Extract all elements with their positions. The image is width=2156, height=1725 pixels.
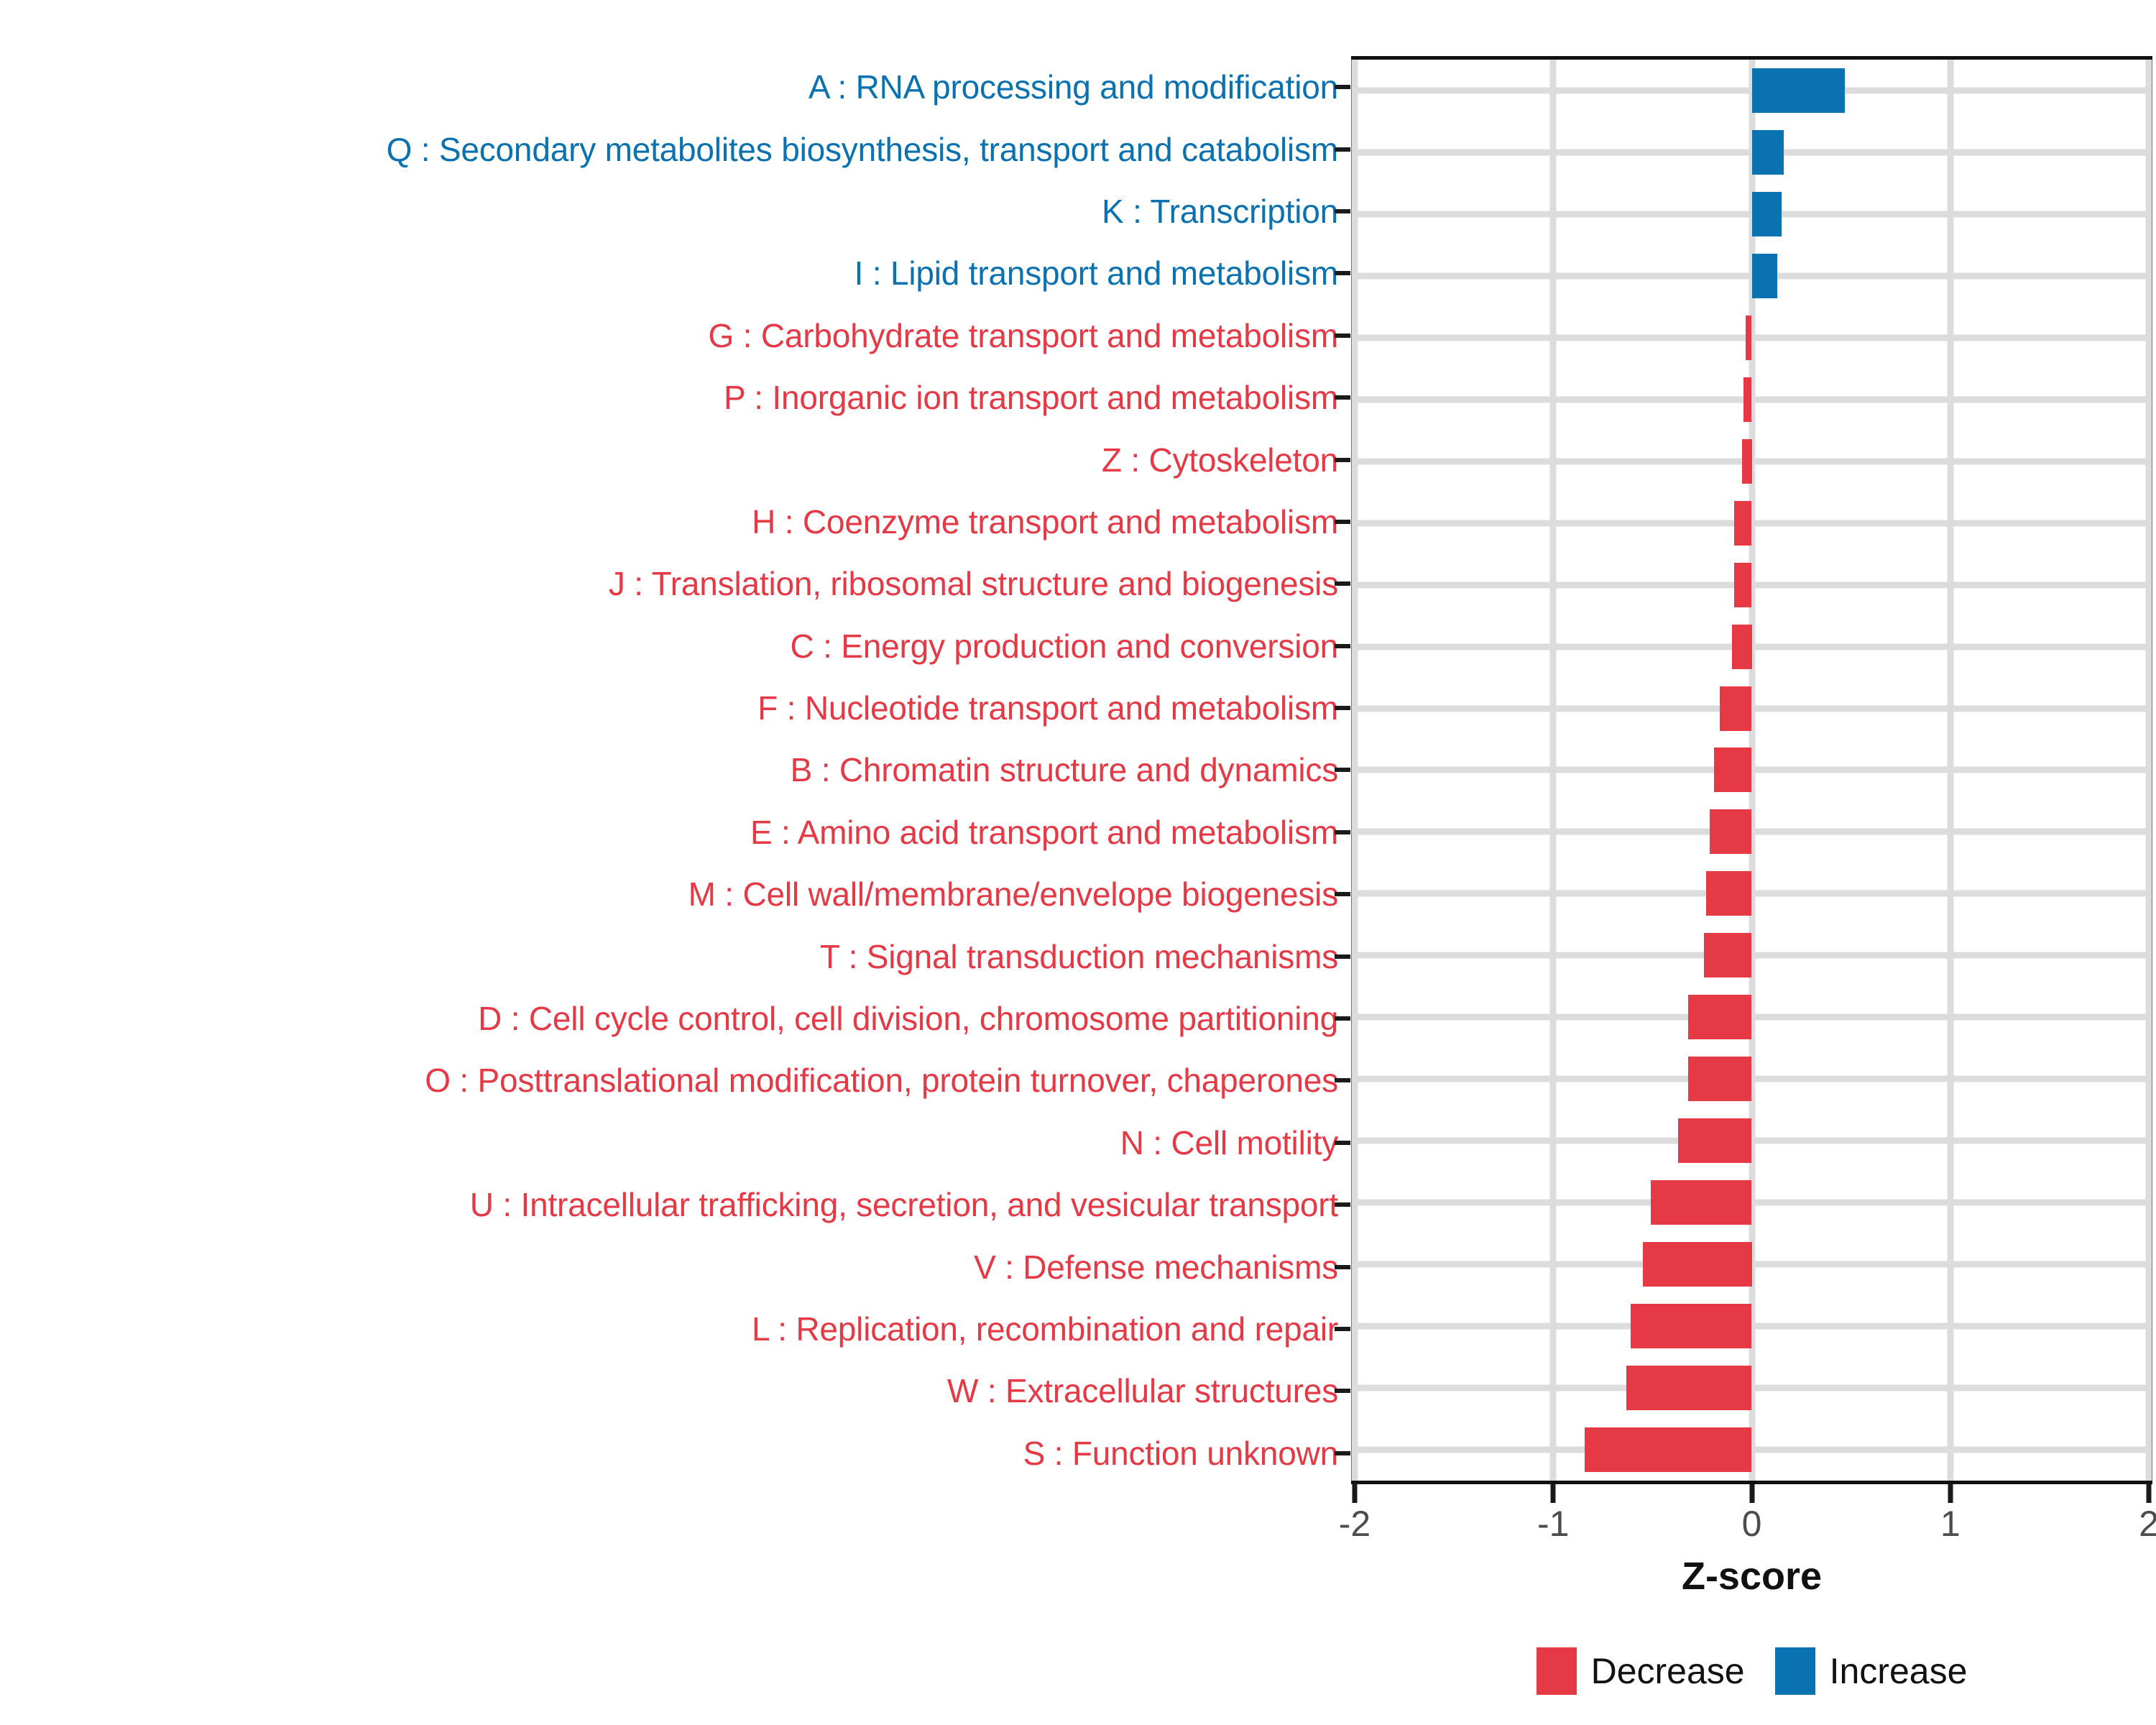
y-axis-tick <box>1335 1451 1350 1455</box>
y-axis-tick <box>1335 1202 1350 1207</box>
category-label: G : Carbohydrate transport and metabolis… <box>709 319 1338 352</box>
bar <box>1651 1180 1752 1225</box>
x-axis-tick-label: 2 <box>2139 1503 2156 1545</box>
y-axis-tick <box>1335 1078 1350 1082</box>
x-axis-tick-label: -2 <box>1339 1503 1370 1545</box>
bar-cell <box>1355 1419 2149 1481</box>
bar <box>1752 130 1784 175</box>
y-tick-cell <box>1333 491 1350 553</box>
bar <box>1714 747 1751 792</box>
y-tick-cell <box>1333 677 1350 739</box>
bar <box>1710 809 1751 854</box>
category-row: J : Translation, ribosomal structure and… <box>0 553 1351 615</box>
bar <box>1743 377 1751 422</box>
category-label: Z : Cytoskeleton <box>1102 443 1338 477</box>
category-row: K : Transcription <box>0 180 1351 242</box>
legend-swatch <box>1775 1647 1815 1695</box>
category-label: B : Chromatin structure and dynamics <box>791 753 1338 786</box>
bar <box>1704 933 1751 977</box>
bar <box>1585 1427 1751 1472</box>
plot-panel <box>1351 56 2152 1484</box>
y-tick-cell <box>1333 1174 1350 1236</box>
bar-cell <box>1355 1048 2149 1110</box>
y-tick-cell <box>1333 305 1350 367</box>
x-axis-tick-label: -1 <box>1537 1503 1569 1545</box>
bar-cell <box>1355 1233 2149 1295</box>
y-axis-tick <box>1335 706 1350 710</box>
category-row: H : Coenzyme transport and metabolism <box>0 491 1351 553</box>
bar <box>1720 686 1751 731</box>
bar-cell <box>1355 924 2149 986</box>
bar-cell <box>1355 616 2149 678</box>
y-axis-tick <box>1335 954 1350 959</box>
bar-cell <box>1355 554 2149 616</box>
category-row: W : Extracellular structures <box>0 1360 1351 1422</box>
bar-cell <box>1355 369 2149 431</box>
y-tick-cell <box>1333 553 1350 615</box>
category-label: T : Signal transduction mechanisms <box>820 940 1338 973</box>
category-label: J : Translation, ribosomal structure and… <box>609 567 1338 600</box>
y-axis-tick <box>1335 581 1350 586</box>
category-row: L : Replication, recombination and repai… <box>0 1298 1351 1360</box>
bar-cell <box>1355 492 2149 554</box>
category-label: A : RNA processing and modification <box>808 70 1338 103</box>
y-tick-cell <box>1333 615 1350 677</box>
bar <box>1752 192 1782 236</box>
category-label: W : Extracellular structures <box>947 1374 1338 1407</box>
y-axis-tick <box>1335 520 1350 524</box>
y-tick-cell <box>1333 739 1350 801</box>
y-tick-cell <box>1333 1298 1350 1360</box>
bar <box>1734 501 1752 546</box>
bar <box>1734 563 1752 607</box>
bar-cell <box>1355 801 2149 862</box>
category-row: B : Chromatin structure and dynamics <box>0 739 1351 801</box>
bar-cell <box>1355 121 2149 183</box>
y-axis-tick <box>1335 830 1350 834</box>
y-axis-tick <box>1335 892 1350 896</box>
bar-cell <box>1355 986 2149 1048</box>
x-axis-tick-label: 0 <box>1742 1503 1762 1545</box>
category-label: Q : Secondary metabolites biosynthesis, … <box>387 133 1338 166</box>
bar-cell <box>1355 307 2149 369</box>
bar-cell <box>1355 862 2149 924</box>
category-row: C : Energy production and conversion <box>0 615 1351 677</box>
bar <box>1626 1366 1751 1410</box>
category-label: C : Energy production and conversion <box>791 630 1338 663</box>
y-axis-tick <box>1335 271 1350 275</box>
category-row: A : RNA processing and modification <box>0 56 1351 118</box>
bar <box>1746 316 1751 360</box>
category-row: P : Inorganic ion transport and metaboli… <box>0 367 1351 428</box>
bar-cell <box>1355 1110 2149 1172</box>
bar-cell <box>1355 1172 2149 1233</box>
category-row: U : Intracellular trafficking, secretion… <box>0 1174 1351 1236</box>
bar-cell <box>1355 678 2149 740</box>
category-row: T : Signal transduction mechanisms <box>0 925 1351 987</box>
bar-cell <box>1355 245 2149 307</box>
x-axis-tick <box>1749 1484 1754 1503</box>
y-tick-cell <box>1333 1236 1350 1297</box>
legend: DecreaseIncrease <box>1351 1642 2152 1700</box>
y-axis-tick <box>1335 1141 1350 1145</box>
category-label-column: A : RNA processing and modificationQ : S… <box>0 56 1351 1484</box>
y-axis-tick <box>1335 209 1350 213</box>
bar-cell <box>1355 431 2149 492</box>
bar <box>1732 625 1752 669</box>
y-axis-tick <box>1335 1265 1350 1269</box>
bar-cell <box>1355 1357 2149 1419</box>
y-axis-tick <box>1335 147 1350 152</box>
category-label: O : Posttranslational modification, prot… <box>425 1064 1338 1097</box>
bar <box>1678 1118 1751 1163</box>
y-tick-cell <box>1333 925 1350 987</box>
y-axis-tick <box>1335 1327 1350 1331</box>
category-row: S : Function unknown <box>0 1422 1351 1484</box>
y-tick-cell <box>1333 1360 1350 1422</box>
category-label: L : Replication, recombination and repai… <box>752 1312 1338 1345</box>
category-row: Q : Secondary metabolites biosynthesis, … <box>0 118 1351 180</box>
y-tick-cell <box>1333 180 1350 242</box>
category-row: Z : Cytoskeleton <box>0 428 1351 490</box>
y-axis-tick <box>1335 768 1350 772</box>
bar <box>1631 1304 1752 1348</box>
y-tick-cell <box>1333 801 1350 863</box>
category-label: F : Nucleotide transport and metabolism <box>757 691 1338 724</box>
bar <box>1752 254 1778 298</box>
bar-series <box>1355 60 2149 1481</box>
x-axis-tick <box>1948 1484 1953 1503</box>
category-row: I : Lipid transport and metabolism <box>0 242 1351 304</box>
y-tick-cell <box>1333 56 1350 118</box>
legend-label: Decrease <box>1591 1650 1745 1692</box>
category-label: V : Defense mechanisms <box>974 1251 1338 1284</box>
y-axis-tick-column <box>1333 56 1350 1484</box>
category-label: K : Transcription <box>1102 195 1338 228</box>
y-tick-cell <box>1333 1112 1350 1174</box>
category-label: U : Intracellular trafficking, secretion… <box>470 1188 1338 1221</box>
legend-item[interactable]: Increase <box>1775 1647 1968 1695</box>
y-tick-cell <box>1333 1422 1350 1484</box>
y-axis-tick <box>1335 85 1350 89</box>
x-axis-tick <box>1353 1484 1358 1503</box>
bar <box>1688 1057 1751 1101</box>
category-row: O : Posttranslational modification, prot… <box>0 1049 1351 1111</box>
bar <box>1752 68 1846 113</box>
bar-cell <box>1355 739 2149 801</box>
category-label: P : Inorganic ion transport and metaboli… <box>724 381 1338 414</box>
bar <box>1742 439 1752 484</box>
category-label: D : Cell cycle control, cell division, c… <box>478 1002 1338 1035</box>
bar <box>1643 1242 1752 1287</box>
y-tick-cell <box>1333 1049 1350 1111</box>
y-axis-tick <box>1335 644 1350 648</box>
y-tick-cell <box>1333 118 1350 180</box>
y-axis-tick <box>1335 1016 1350 1021</box>
category-label: I : Lipid transport and metabolism <box>854 257 1338 290</box>
category-row: V : Defense mechanisms <box>0 1236 1351 1297</box>
x-axis-tick <box>2147 1484 2152 1503</box>
bar-cell <box>1355 1295 2149 1357</box>
category-row: F : Nucleotide transport and metabolism <box>0 677 1351 739</box>
cog-zscore-bar-chart: A : RNA processing and modificationQ : S… <box>0 0 2156 1725</box>
bar-cell <box>1355 183 2149 245</box>
category-label: H : Coenzyme transport and metabolism <box>752 505 1338 538</box>
y-tick-cell <box>1333 242 1350 304</box>
y-axis-tick <box>1335 395 1350 400</box>
category-label: M : Cell wall/membrane/envelope biogenes… <box>688 878 1338 911</box>
y-axis-tick <box>1335 458 1350 462</box>
legend-swatch <box>1537 1647 1577 1695</box>
category-label: N : Cell motility <box>1120 1126 1338 1159</box>
category-row: D : Cell cycle control, cell division, c… <box>0 988 1351 1049</box>
category-row: M : Cell wall/membrane/envelope biogenes… <box>0 863 1351 925</box>
x-axis-title: Z-score <box>1351 1554 2152 1598</box>
y-axis-tick <box>1335 1389 1350 1393</box>
x-axis-tick <box>1551 1484 1556 1503</box>
category-label: S : Function unknown <box>1023 1437 1338 1470</box>
bar <box>1688 995 1751 1039</box>
bar-cell <box>1355 60 2149 121</box>
category-row: G : Carbohydrate transport and metabolis… <box>0 305 1351 367</box>
y-axis-tick <box>1335 333 1350 338</box>
y-tick-cell <box>1333 988 1350 1049</box>
y-tick-cell <box>1333 428 1350 490</box>
legend-item[interactable]: Decrease <box>1537 1647 1745 1695</box>
category-row: N : Cell motility <box>0 1112 1351 1174</box>
y-tick-cell <box>1333 367 1350 428</box>
y-tick-cell <box>1333 863 1350 925</box>
legend-label: Increase <box>1830 1650 1968 1692</box>
category-row: E : Amino acid transport and metabolism <box>0 801 1351 863</box>
category-label: E : Amino acid transport and metabolism <box>750 816 1338 849</box>
bar <box>1706 871 1752 916</box>
x-axis-tick-label: 1 <box>1940 1503 1961 1545</box>
